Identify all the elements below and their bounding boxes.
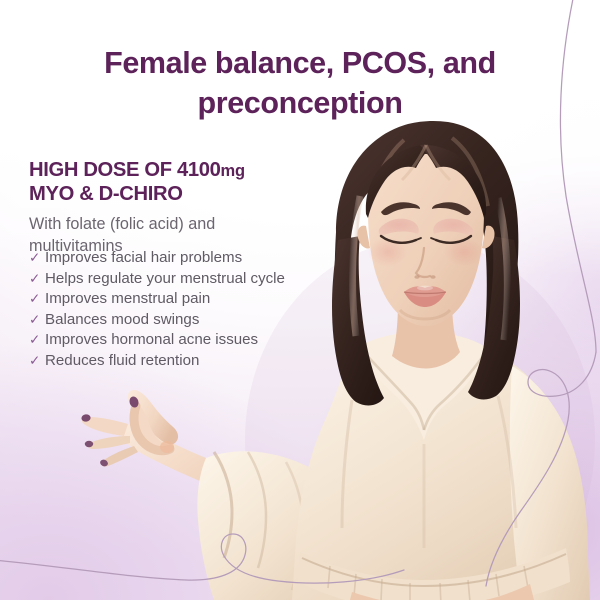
list-item: ✓ Helps regulate your menstrual cycle bbox=[29, 269, 349, 290]
text-content-layer: Female balance, PCOS, and preconception … bbox=[0, 0, 600, 600]
product-subheading: HIGH DOSE OF 4100mg MYO & D-CHIRO bbox=[29, 158, 359, 207]
list-item: ✓ Improves hormonal acne issues bbox=[29, 330, 349, 351]
check-icon: ✓ bbox=[29, 330, 45, 351]
promo-poster: Female balance, PCOS, and preconception … bbox=[0, 0, 600, 600]
benefit-label: Helps regulate your menstrual cycle bbox=[45, 269, 285, 290]
subheading-dose-unit: mg bbox=[221, 162, 245, 180]
subheading-dose-text: HIGH DOSE OF 4100 bbox=[29, 159, 221, 181]
list-item: ✓ Balances mood swings bbox=[29, 310, 349, 331]
subheading-line-ingredients: MYO & D-CHIRO bbox=[29, 182, 359, 206]
check-icon: ✓ bbox=[29, 269, 45, 290]
list-item: ✓ Reduces fluid retention bbox=[29, 351, 349, 372]
headline-line-2: preconception bbox=[42, 84, 558, 123]
benefits-list: ✓ Improves facial hair problems ✓ Helps … bbox=[29, 248, 349, 372]
subheading-line-dose: HIGH DOSE OF 4100mg bbox=[29, 158, 359, 182]
benefit-label: Improves facial hair problems bbox=[45, 248, 242, 269]
list-item: ✓ Improves facial hair problems bbox=[29, 248, 349, 269]
benefit-label: Reduces fluid retention bbox=[45, 351, 199, 372]
benefit-label: Improves menstrual pain bbox=[45, 289, 210, 310]
description-line-1: With folate (folic acid) and bbox=[29, 214, 319, 236]
check-icon: ✓ bbox=[29, 248, 45, 269]
check-icon: ✓ bbox=[29, 351, 45, 372]
check-icon: ✓ bbox=[29, 289, 45, 310]
headline-line-1: Female balance, PCOS, and bbox=[42, 44, 558, 83]
check-icon: ✓ bbox=[29, 310, 45, 331]
page-title: Female balance, PCOS, and preconception bbox=[42, 44, 558, 123]
benefit-label: Improves hormonal acne issues bbox=[45, 330, 258, 351]
benefit-label: Balances mood swings bbox=[45, 310, 199, 331]
list-item: ✓ Improves menstrual pain bbox=[29, 289, 349, 310]
